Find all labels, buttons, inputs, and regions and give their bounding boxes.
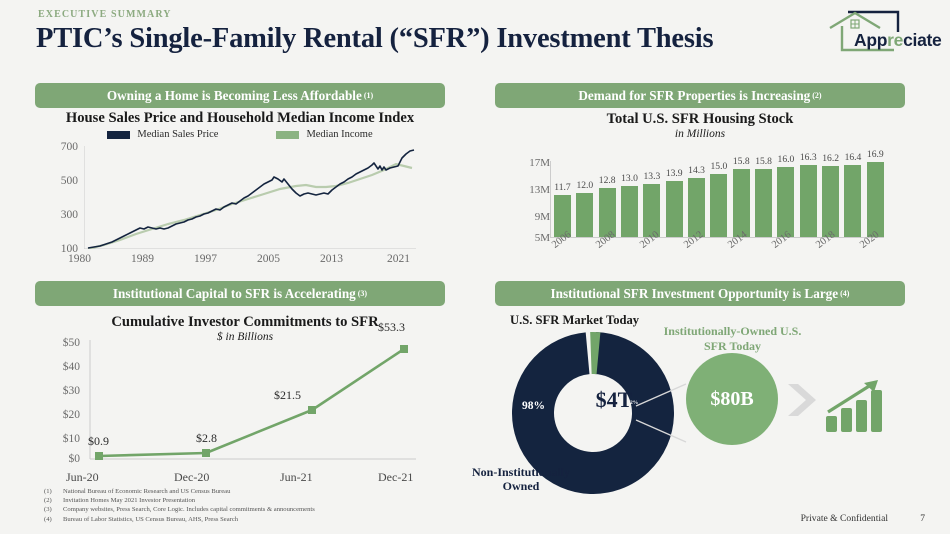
bar bbox=[822, 166, 839, 237]
q3-xtick-dec20: Dec-20 bbox=[174, 470, 209, 485]
bar-value-label: 16.9 bbox=[867, 149, 884, 160]
banner-institutional-capital: Institutional Capital to SFR is Accelera… bbox=[35, 281, 445, 306]
bar-value-label: 13.3 bbox=[643, 171, 660, 182]
bar bbox=[867, 162, 884, 237]
bar-value-label: 16.4 bbox=[845, 152, 862, 163]
legend-item-median-income: Median Income bbox=[276, 129, 372, 140]
growth-chart-icon bbox=[822, 372, 894, 436]
slide: EXECUTIVE SUMMARY PTIC’s Single-Family R… bbox=[0, 0, 950, 534]
q3-datalabel-0: $0.9 bbox=[88, 434, 109, 449]
bar-column: 13.0 bbox=[621, 152, 638, 237]
chart-title-price-income: House Sales Price and Household Median I… bbox=[35, 110, 445, 127]
bar-value-label: 12.8 bbox=[599, 175, 616, 186]
eyebrow-label: EXECUTIVE SUMMARY bbox=[38, 9, 172, 20]
bar-column: 15.8 bbox=[733, 152, 750, 237]
logo-text-part1: App bbox=[854, 30, 887, 50]
banner-opportunity: Institutional SFR Investment Opportunity… bbox=[495, 281, 905, 306]
bar-value-label: 16.0 bbox=[778, 154, 795, 165]
bar-value-label: 14.3 bbox=[688, 165, 705, 176]
q3-xtick-jun21: Jun-21 bbox=[280, 470, 313, 485]
q2-ytick-17m: 17M bbox=[514, 157, 550, 169]
bar-value-label: 13.9 bbox=[666, 168, 683, 179]
q2-bar-group: 11.712.012.813.013.313.914.315.015.815.8… bbox=[554, 152, 884, 237]
banner-institutional-capital-footnote: (3) bbox=[358, 289, 367, 298]
q3-ytick-20: $20 bbox=[38, 409, 80, 421]
bar-column: 15.8 bbox=[755, 152, 772, 237]
bar-value-label: 12.0 bbox=[576, 180, 593, 191]
chart-subtitle-housing-stock: in Millions bbox=[495, 128, 905, 140]
bar bbox=[688, 178, 705, 237]
legend-swatch-navy bbox=[107, 131, 130, 139]
banner-affordability-footnote: (1) bbox=[364, 91, 373, 100]
q3-ytick-50: $50 bbox=[38, 337, 80, 349]
donut-label-98pct: 98% bbox=[522, 400, 545, 412]
q3-ytick-10: $10 bbox=[38, 433, 80, 445]
footnote-number: (1) bbox=[44, 487, 57, 496]
q3-ytick-0: $0 bbox=[38, 453, 80, 465]
legend-swatch-green bbox=[276, 131, 299, 139]
q3-datalabel-3: $53.3 bbox=[378, 320, 405, 335]
bar-value-label: 13.0 bbox=[621, 173, 638, 184]
q1-ytick-500: 500 bbox=[44, 175, 78, 187]
bar-value-label: 15.0 bbox=[711, 161, 728, 172]
bar-value-label: 15.8 bbox=[755, 156, 772, 167]
footnotes-block: (1)National Bureau of Economic Research … bbox=[44, 487, 315, 524]
footnote-text: Invitation Homes May 2021 Investor Prese… bbox=[63, 496, 195, 505]
banner-demand: Demand for SFR Properties is Increasing(… bbox=[495, 83, 905, 108]
bar bbox=[666, 181, 683, 237]
q1-ytick-300: 300 bbox=[44, 209, 78, 221]
q2-ytick-5m: 5M bbox=[514, 232, 550, 244]
bar bbox=[777, 167, 794, 237]
footnote-row: (3)Company websites, Press Search, Core … bbox=[44, 505, 315, 514]
chevron-right-icon bbox=[784, 380, 824, 420]
bar-column: 16.2 bbox=[822, 152, 839, 237]
donut-chart-title: U.S. SFR Market Today bbox=[510, 313, 639, 328]
bar-column: 13.9 bbox=[666, 152, 683, 237]
q3-line-svg bbox=[86, 322, 416, 462]
q3-xtick-dec21: Dec-21 bbox=[378, 470, 413, 485]
q3-datalabel-2: $21.5 bbox=[274, 388, 301, 403]
legend-price-income: Median Sales Price Median Income bbox=[35, 129, 445, 140]
bar-value-label: 16.3 bbox=[800, 152, 817, 163]
footnote-text: National Bureau of Economic Research and… bbox=[63, 487, 230, 496]
logo-text-part2: re bbox=[887, 30, 903, 50]
footnote-row: (2)Invitation Homes May 2021 Investor Pr… bbox=[44, 496, 315, 505]
footnote-number: (4) bbox=[44, 515, 57, 524]
bar bbox=[576, 193, 593, 237]
footnote-number: (3) bbox=[44, 505, 57, 514]
footnote-text: Bureau of Labor Statistics, US Census Bu… bbox=[63, 515, 238, 524]
banner-institutional-capital-label: Institutional Capital to SFR is Accelera… bbox=[113, 286, 356, 302]
q1-xtick-2021: 2021 bbox=[387, 253, 410, 265]
bar-column: 16.9 bbox=[867, 152, 884, 237]
bar bbox=[599, 188, 616, 237]
q1-xtick-2005: 2005 bbox=[257, 253, 280, 265]
banner-affordability-label: Owning a Home is Becoming Less Affordabl… bbox=[107, 88, 362, 104]
banner-opportunity-label: Institutional SFR Investment Opportunity… bbox=[551, 286, 839, 302]
legend-label-sales-price: Median Sales Price bbox=[137, 129, 218, 140]
q2-ytick-13m: 13M bbox=[514, 184, 550, 196]
bar bbox=[755, 169, 772, 237]
q2-y-axis bbox=[550, 161, 551, 237]
bar-column: 14.3 bbox=[688, 152, 705, 237]
bar-value-label: 16.2 bbox=[822, 153, 839, 164]
footer-confidential: Private & Confidential bbox=[801, 513, 888, 524]
donut-center-value: $4T bbox=[566, 387, 662, 413]
q3-plot-area bbox=[86, 322, 416, 462]
footnote-row: (4)Bureau of Labor Statistics, US Census… bbox=[44, 515, 315, 524]
q1-xtick-1980: 1980 bbox=[68, 253, 91, 265]
bar-column: 15.0 bbox=[710, 152, 727, 237]
bar-column: 16.0 bbox=[777, 152, 794, 237]
q1-plot-area bbox=[84, 146, 416, 249]
legend-item-sales-price: Median Sales Price bbox=[107, 129, 218, 140]
footer-page-number: 7 bbox=[920, 513, 925, 524]
bar bbox=[733, 169, 750, 237]
q3-ytick-40: $40 bbox=[38, 361, 80, 373]
bar-column: 16.3 bbox=[800, 152, 817, 237]
banner-affordability: Owning a Home is Becoming Less Affordabl… bbox=[35, 83, 445, 108]
q3-xtick-jun20: Jun-20 bbox=[66, 470, 99, 485]
q1-ytick-700: 700 bbox=[44, 141, 78, 153]
institutional-owned-label: Institutionally-Owned U.S. SFR Today bbox=[660, 324, 805, 353]
bar-value-label: 11.7 bbox=[554, 182, 570, 193]
q2-plot-area: 11.712.012.813.013.313.914.315.015.815.8… bbox=[554, 152, 884, 237]
banner-demand-label: Demand for SFR Properties is Increasing bbox=[578, 88, 810, 104]
bar-column: 12.8 bbox=[599, 152, 616, 237]
page-title: PTIC’s Single-Family Rental (“SFR”) Inve… bbox=[36, 23, 713, 55]
chart-title-housing-stock: Total U.S. SFR Housing Stock bbox=[495, 111, 905, 128]
institutional-value-circle: $80B bbox=[686, 353, 778, 445]
bar-column: 16.4 bbox=[844, 152, 861, 237]
q2-ytick-9m: 9M bbox=[514, 211, 550, 223]
q1-xtick-1997: 1997 bbox=[194, 253, 217, 265]
donut-label-2pct: 2% bbox=[630, 400, 638, 406]
banner-opportunity-footnote: (4) bbox=[840, 289, 849, 298]
logo-text-part3: ciate bbox=[903, 30, 941, 50]
footnote-number: (2) bbox=[44, 496, 57, 505]
bar bbox=[621, 186, 638, 237]
bar-column: 12.0 bbox=[576, 152, 593, 237]
bar-column: 11.7 bbox=[554, 152, 571, 237]
footnote-row: (1)National Bureau of Economic Research … bbox=[44, 487, 315, 496]
bar-column: 13.3 bbox=[643, 152, 660, 237]
q1-xtick-1989: 1989 bbox=[131, 253, 154, 265]
q1-line-svg bbox=[84, 146, 416, 249]
q3-ytick-30: $30 bbox=[38, 385, 80, 397]
q1-xtick-2013: 2013 bbox=[320, 253, 343, 265]
bar bbox=[844, 165, 861, 237]
appreciate-logo: Appreciate bbox=[822, 6, 942, 56]
donut-label-non-institutional: Non-Institutionally Owned bbox=[466, 465, 576, 493]
bar bbox=[710, 174, 727, 237]
banner-demand-footnote: (2) bbox=[812, 91, 821, 100]
bar-value-label: 15.8 bbox=[733, 156, 750, 167]
bar bbox=[643, 184, 660, 237]
bar bbox=[800, 165, 817, 237]
footnote-text: Company websites, Press Search, Core Log… bbox=[63, 505, 315, 514]
legend-label-median-income: Median Income bbox=[306, 129, 372, 140]
q3-datalabel-1: $2.8 bbox=[196, 431, 217, 446]
